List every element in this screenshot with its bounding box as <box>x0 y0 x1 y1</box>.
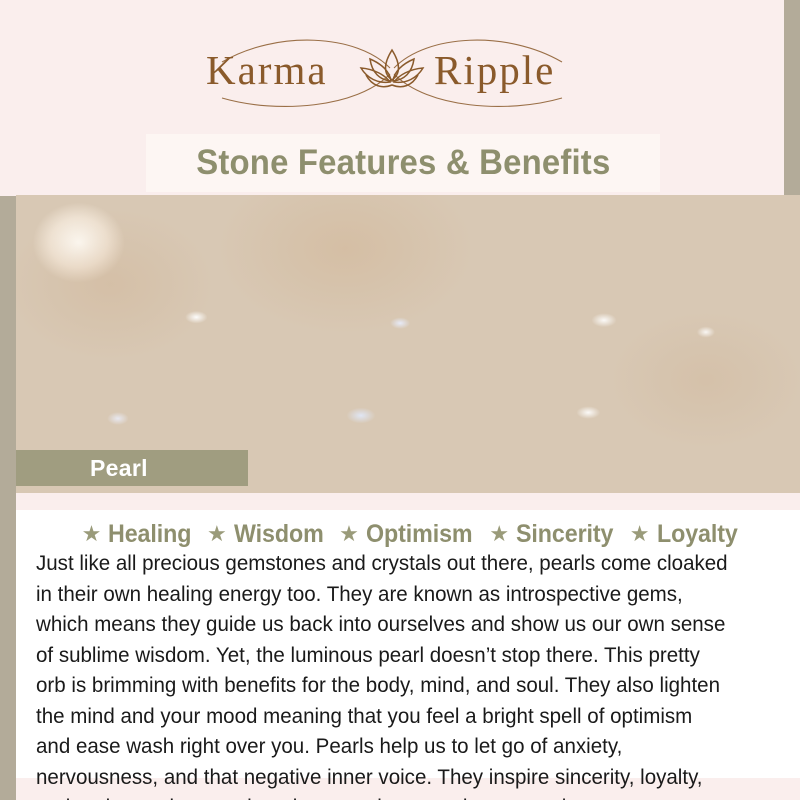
brand-logo: Karma Ripple <box>0 28 784 114</box>
frame-bottom-left-notch <box>0 778 16 800</box>
section-title-band: Stone Features & Benefits <box>146 134 660 192</box>
photo-highlight-layer <box>16 195 800 493</box>
lotus-icon <box>361 50 423 87</box>
keyword-item-optimism: ★ Optimism <box>330 520 480 549</box>
star-icon: ★ <box>339 523 359 545</box>
infographic-card: Karma Ripple Stone Features & Benefits P… <box>0 0 800 800</box>
keyword-list: ★ Healing ★ Wisdom ★ Optimism ★ Sincerit… <box>16 518 800 550</box>
panel-top-pink-strip <box>16 493 800 510</box>
star-icon: ★ <box>82 523 102 545</box>
star-icon: ★ <box>489 523 509 545</box>
star-icon: ★ <box>630 523 650 545</box>
stone-description: Just like all precious gemstones and cry… <box>36 548 731 800</box>
keyword-item-wisdom: ★ Wisdom <box>198 520 330 549</box>
keyword-item-sincerity: ★ Sincerity <box>480 520 620 549</box>
keyword-label: Healing <box>108 520 191 549</box>
keyword-item-loyalty: ★ Loyalty <box>621 520 744 549</box>
keyword-label: Optimism <box>366 520 472 549</box>
pearl-stones-photo <box>16 195 800 493</box>
keyword-label: Sincerity <box>516 520 613 549</box>
star-icon: ★ <box>207 523 227 545</box>
brand-name-right: Ripple <box>434 47 555 93</box>
page-title: Stone Features & Benefits <box>196 143 610 183</box>
stone-name-banner: Pearl <box>16 450 248 486</box>
keyword-label: Wisdom <box>234 520 324 549</box>
keyword-label: Loyalty <box>657 520 738 549</box>
stone-name-label: Pearl <box>90 455 148 482</box>
brand-name-left: Karma <box>206 47 328 93</box>
keyword-item-healing: ★ Healing <box>73 520 198 549</box>
